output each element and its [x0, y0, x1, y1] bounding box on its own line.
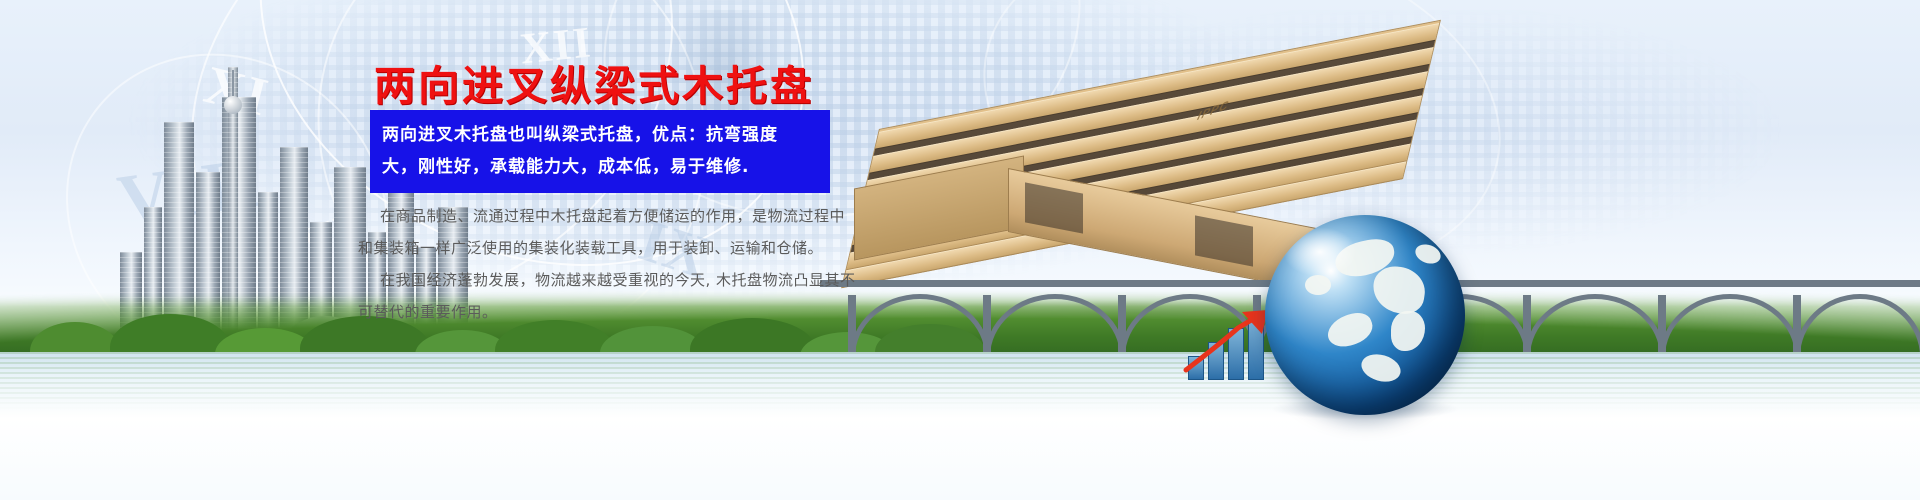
earth-globe-icon	[1265, 215, 1465, 415]
highlight-callout-box: 两向进叉木托盘也叫纵梁式托盘，优点：抗弯强度 大，刚性好，承载能力大，成本低，易…	[370, 110, 830, 193]
paragraph-line-1: 在商品制造、流通过程中木托盘起着方便储运的作用，是物流过程中	[358, 200, 858, 232]
highlight-line-1: 两向进叉木托盘也叫纵梁式托盘，优点：抗弯强度	[382, 119, 820, 151]
promotional-banner: VIII XI VI IX XII	[0, 0, 1920, 500]
paragraph-line-3: 在我国经济蓬勃发展，物流越来越受重视的今天, 木托盘物流凸显其不	[358, 264, 858, 296]
paragraph-line-2: 和集装箱一样广泛使用的集装化装载工具，用于装卸、运输和仓储。	[358, 232, 858, 264]
water-ripples	[0, 352, 1920, 410]
paragraph-line-4: 可替代的重要作用。	[358, 296, 858, 328]
page-title: 两向进叉纵梁式木托盘	[374, 52, 814, 112]
description-paragraph: 在商品制造、流通过程中木托盘起着方便储运的作用，是物流过程中 和集装箱一样广泛使…	[358, 200, 858, 328]
highlight-line-2: 大，刚性好，承载能力大，成本低，易于维修.	[382, 151, 820, 183]
red-growth-arrow-icon	[1182, 310, 1278, 376]
